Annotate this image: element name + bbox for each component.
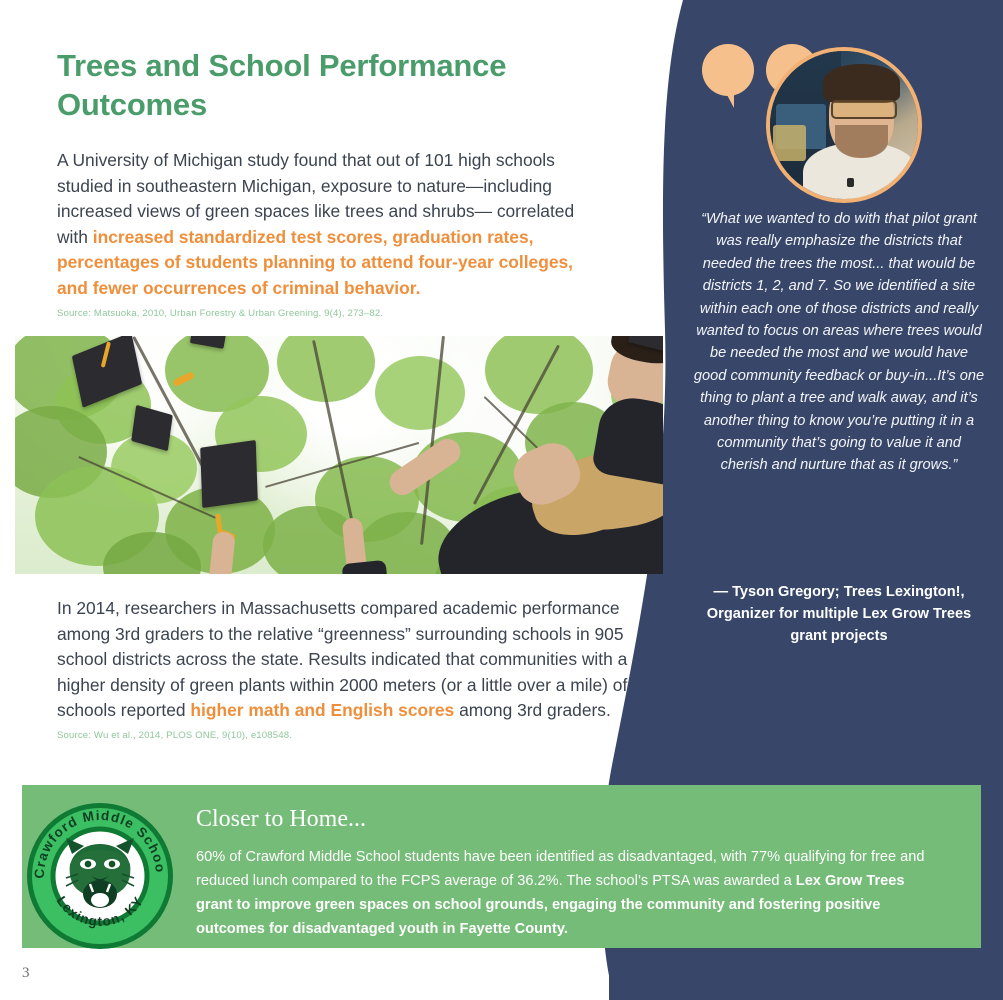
band-title: Closer to Home... [196, 804, 366, 834]
paragraph-one-highlight: increased standardized test scores, grad… [57, 227, 573, 298]
graduation-photo [15, 336, 663, 574]
avatar [766, 47, 922, 203]
paragraph-one: A University of Michigan study found tha… [57, 148, 597, 321]
page-root: Trees and School Performance Outcomes A … [0, 0, 1003, 1000]
microphone-icon [847, 178, 854, 187]
paragraph-two-tail: among 3rd graders. [454, 700, 611, 720]
paragraph-two: In 2014, researchers in Massachusetts co… [57, 596, 629, 743]
quote-attribution: — Tyson Gregory; Trees Lexington!, Organ… [700, 581, 978, 647]
band-body: 60% of Crawford Middle School students h… [196, 845, 936, 941]
pull-quote: “What we wanted to do with that pilot gr… [692, 208, 986, 477]
paragraph-two-highlight: higher math and English scores [190, 700, 454, 720]
paragraph-one-source: Source: Matsuoka, 2010, Urban Forestry &… [57, 307, 597, 321]
crawford-middle-school-logo: Crawford Middle School Lexington, KY [26, 802, 174, 950]
paragraph-two-source: Source: Wu et al., 2014, PLOS ONE, 9(10)… [57, 729, 629, 743]
glasses-icon [831, 100, 897, 119]
graduation-cap [200, 440, 258, 508]
page-number: 3 [22, 965, 30, 982]
page-title: Trees and School Performance Outcomes [57, 46, 577, 124]
